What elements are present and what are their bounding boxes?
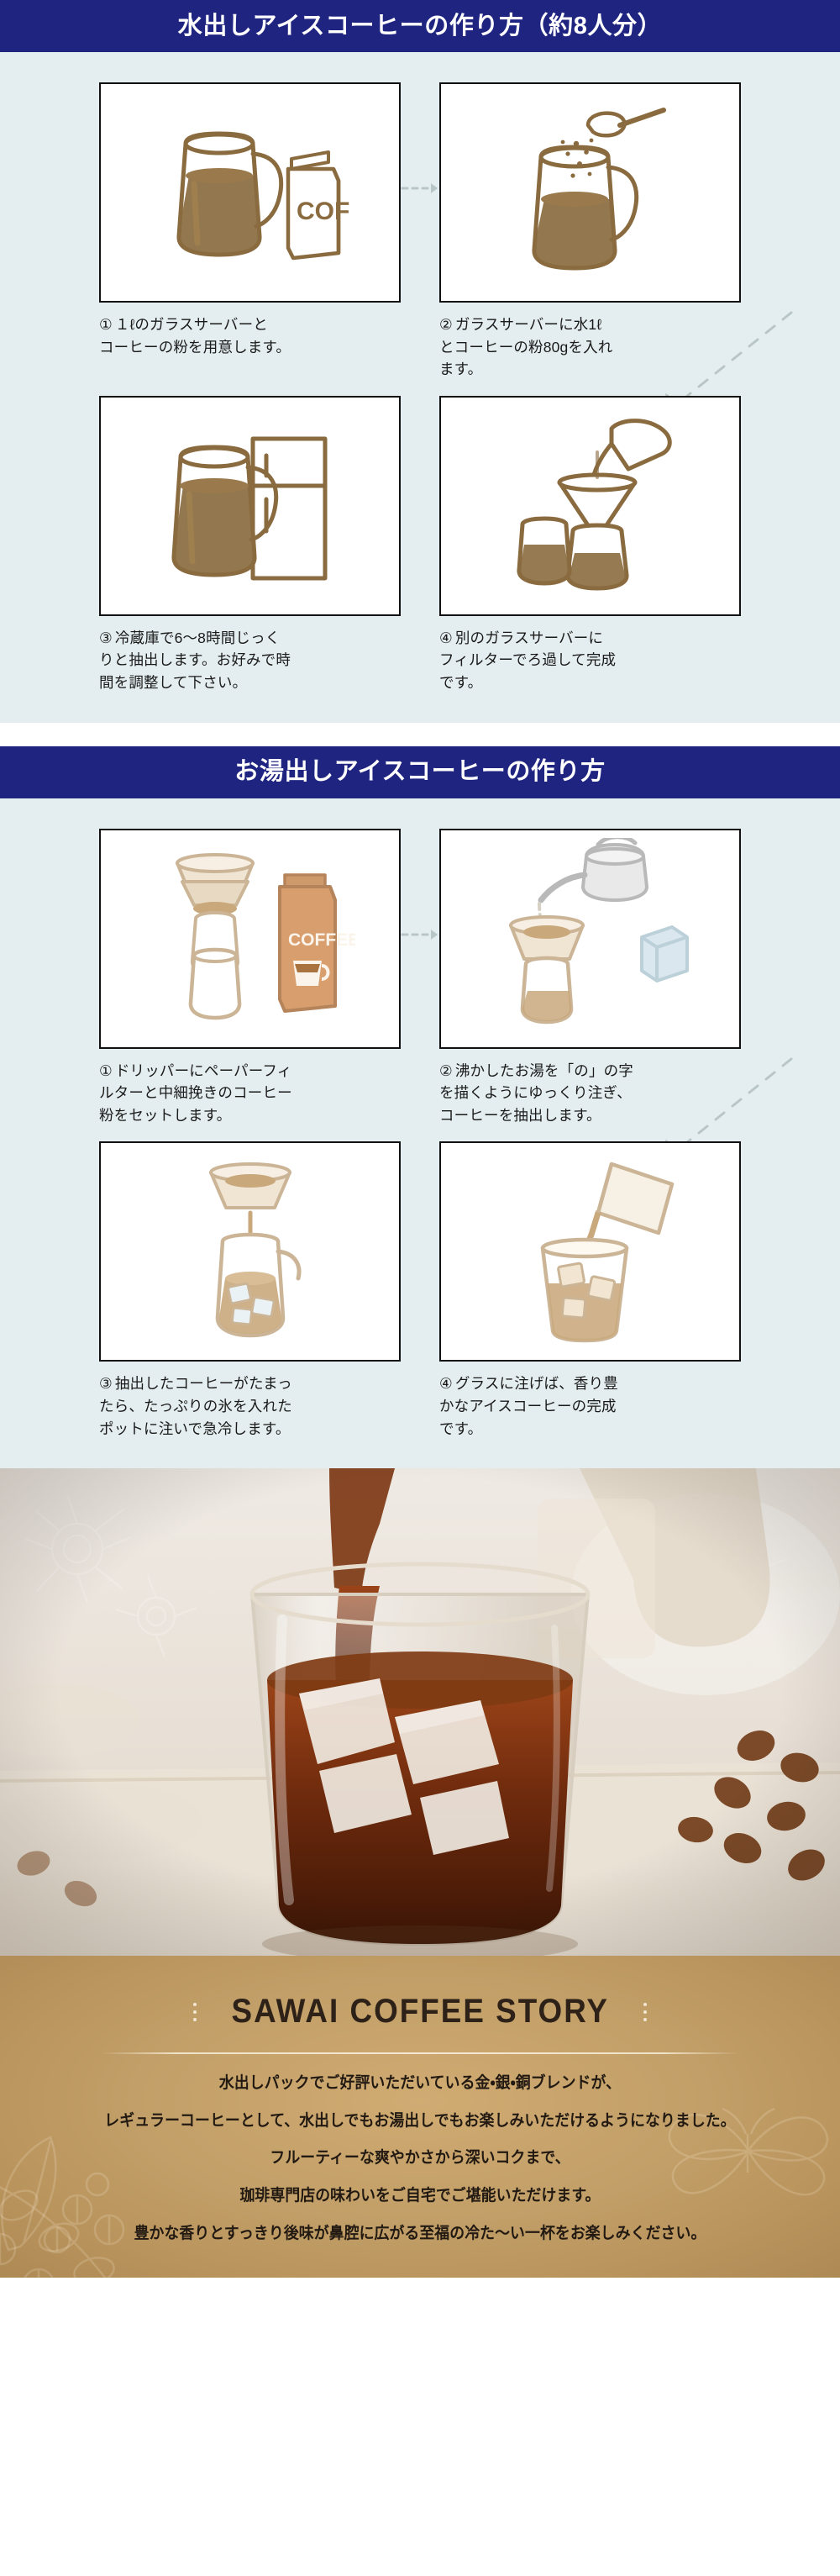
step-caption-8: ④グラスに注げば、香り豊 かなアイスコーヒーの完成 です。 (439, 1372, 741, 1440)
section-divider (0, 723, 840, 746)
title-dots-left-icon (193, 2003, 197, 2021)
step-text-6-line-2: を描くようにゆっくり注ぎ、 (439, 1084, 632, 1101)
story-line-4: 珈琲専門店の味わいをご自宅でご堪能いただけます。 (25, 2185, 815, 2207)
step-illustration-panel-3 (99, 396, 401, 616)
filter-pour-into-server-icon (486, 405, 696, 607)
connector-arrow-5-to-6 (401, 928, 439, 941)
step-illustration-panel-4 (439, 396, 741, 616)
dripper-over-server-with-ice-icon (145, 1151, 355, 1352)
pitcher-with-spoon-icon (486, 92, 696, 293)
step-text-4-line-2: フィルターでろ過して完成 (439, 651, 616, 668)
step-caption-6: ②沸かしたお湯を「の」の字 を描くようにゆっくり注ぎ、 コーヒーを抽出します。 (439, 1060, 741, 1127)
step-text-3-line-1: 冷蔵庫で6〜8時間じっく (115, 630, 281, 646)
step-card-2: ②ガラスサーバーに水1ℓ とコーヒーの粉80gを入れ ます。 (439, 82, 741, 381)
step-caption-1: ①１ℓのガラスサーバーと コーヒーの粉を用意します。 (99, 313, 401, 358)
steps-grid-hot-brew: COFFEE ①ドリッパーにペーパーフィ ルターと中細挽きのコーヒー 粉をセット… (0, 798, 840, 1441)
step-card-3: ③冷蔵庫で6〜8時間じっく りと抽出します。お好みで時 間を調整して下さい。 (99, 396, 401, 694)
step-text-1-line-1: １ℓのガラスサーバーと (115, 316, 268, 333)
step-caption-5: ①ドリッパーにペーパーフィ ルターと中細挽きのコーヒー 粉をセットします。 (99, 1060, 401, 1127)
step-card-1: COF ①１ℓのガラスサーバーと コーヒーの粉を用意します。 (99, 82, 401, 381)
step-text-2-line-2: とコーヒーの粉80gを入れ (439, 339, 612, 356)
step-text-4-line-1: 別のガラスサーバーに (455, 630, 603, 646)
step-card-8: ④グラスに注げば、香り豊 かなアイスコーヒーの完成 です。 (439, 1141, 741, 1440)
section-hot-brew: お湯出しアイスコーヒーの作り方 (0, 746, 840, 1469)
step-text-8-line-3: です。 (439, 1420, 482, 1437)
story-title: SAWAI COFFEE STORY (231, 1993, 608, 2031)
step-text-1-line-2: コーヒーの粉を用意します。 (99, 339, 291, 356)
story-body: 水出しパックでご好評いただいている金・銀・銅ブレンドが、 レギュラーコーヒーとし… (0, 2073, 840, 2244)
step-number-3: ③ (99, 630, 113, 646)
step-number-5: ① (99, 1062, 113, 1079)
page-root: 水出しアイスコーヒーの作り方（約8人分） COF (0, 0, 840, 2278)
kettle-pour-with-ice-icon (486, 838, 696, 1040)
step-caption-2: ②ガラスサーバーに水1ℓ とコーヒーの粉80gを入れ ます。 (439, 313, 741, 381)
pour-into-iced-glass-icon (486, 1151, 696, 1352)
step-illustration-panel-7 (99, 1141, 401, 1362)
step-caption-3: ③冷蔵庫で6〜8時間じっく りと抽出します。お好みで時 間を調整して下さい。 (99, 627, 401, 694)
step-card-4: ④別のガラスサーバーに フィルターでろ過して完成 です。 (439, 396, 741, 694)
step-number-6: ② (439, 1062, 453, 1079)
story-band: SAWAI COFFEE STORY 水出しパックでご好評いただいている金・銀・… (0, 1956, 840, 2278)
step-text-7-line-1: 抽出したコーヒーがたまっ (115, 1375, 292, 1392)
step-number-1: ① (99, 316, 113, 333)
story-title-row: SAWAI COFFEE STORY (0, 1993, 840, 2031)
step-card-7: ③抽出したコーヒーがたまっ たら、たっぷりの氷を入れた ポットに注いで急冷します… (99, 1141, 401, 1440)
step-text-6-line-1: 沸かしたお湯を「の」の字 (455, 1062, 633, 1079)
step-number-8: ④ (439, 1375, 453, 1392)
iced-coffee-pour-photo (0, 1468, 840, 1956)
banner-title: 水出しアイスコーヒーの作り方（約8人分） (178, 14, 662, 39)
step-text-2-line-1: ガラスサーバーに水1ℓ (455, 316, 601, 333)
step-illustration-panel-5: COFFEE (99, 829, 401, 1049)
step-text-8-line-1: グラスに注げば、香り豊 (455, 1375, 618, 1392)
step-card-6: ②沸かしたお湯を「の」の字 を描くようにゆっくり注ぎ、 コーヒーを抽出します。 (439, 829, 741, 1127)
step-illustration-panel-1: COF (99, 82, 401, 303)
dripper-filter-and-bag-icon: COFFEE (145, 838, 355, 1040)
pitcher-in-refrigerator-icon (145, 405, 355, 607)
step-illustration-panel-6 (439, 829, 741, 1049)
step-number-7: ③ (99, 1375, 113, 1392)
banner-title-2: お湯出しアイスコーヒーの作り方 (234, 760, 605, 784)
section-cold-brew: 水出しアイスコーヒーの作り方（約8人分） COF (0, 0, 840, 723)
step-number-2: ② (439, 316, 453, 333)
step-text-5-line-2: ルターと中細挽きのコーヒー (99, 1084, 292, 1101)
story-divider-rule (101, 2052, 739, 2054)
step-text-7-line-2: たら、たっぷりの氷を入れた (99, 1398, 292, 1414)
section-banner-cold-brew: 水出しアイスコーヒーの作り方（約8人分） (0, 0, 840, 52)
step-illustration-panel-8 (439, 1141, 741, 1362)
step-text-6-line-3: コーヒーを抽出します。 (439, 1107, 601, 1124)
connector-arrow-1-to-2 (401, 182, 439, 195)
step-illustration-panel-2 (439, 82, 741, 303)
story-line-5: 豊かな香りとすっきり後味が鼻腔に広がる至福の冷た〜い一杯をお楽しみください。 (25, 2223, 815, 2245)
step-text-3-line-3: 間を調整して下さい。 (99, 674, 247, 691)
step-number-4: ④ (439, 630, 453, 646)
step-text-3-line-2: りと抽出します。お好みで時 (99, 651, 291, 668)
hero-photo (0, 1468, 840, 1956)
story-line-3: フルーティーな爽やかさから深いコクまで、 (25, 2147, 815, 2169)
step-text-7-line-3: ポットに注いで急冷します。 (99, 1420, 291, 1437)
step-text-2-line-3: ます。 (439, 361, 482, 377)
step-text-5-line-1: ドリッパーにペーパーフィ (115, 1062, 292, 1079)
story-line-1: 水出しパックでご好評いただいている金・銀・銅ブレンドが、 (25, 2073, 815, 2094)
bag-label-1: COF (297, 198, 349, 225)
steps-grid-cold-brew: COF ①１ℓのガラスサーバーと コーヒーの粉を用意します。 (0, 52, 840, 694)
bag-label-2: COFFEE (288, 930, 355, 950)
step-text-8-line-2: かなアイスコーヒーの完成 (439, 1398, 617, 1414)
section-banner-hot-brew: お湯出しアイスコーヒーの作り方 (0, 746, 840, 798)
story-line-2: レギュラーコーヒーとして、水出しでもお湯出しでもお楽しみいただけるようになりまし… (25, 2110, 815, 2132)
pitcher-and-coffee-bag-icon: COF (145, 92, 355, 293)
step-caption-4: ④別のガラスサーバーに フィルターでろ過して完成 です。 (439, 627, 741, 694)
step-card-5: COFFEE ①ドリッパーにペーパーフィ ルターと中細挽きのコーヒー 粉をセット… (99, 829, 401, 1127)
step-text-4-line-3: です。 (439, 674, 482, 691)
step-text-5-line-3: 粉をセットします。 (99, 1107, 231, 1124)
step-caption-7: ③抽出したコーヒーがたまっ たら、たっぷりの氷を入れた ポットに注いで急冷します… (99, 1372, 401, 1440)
title-dots-right-icon (643, 2003, 647, 2021)
